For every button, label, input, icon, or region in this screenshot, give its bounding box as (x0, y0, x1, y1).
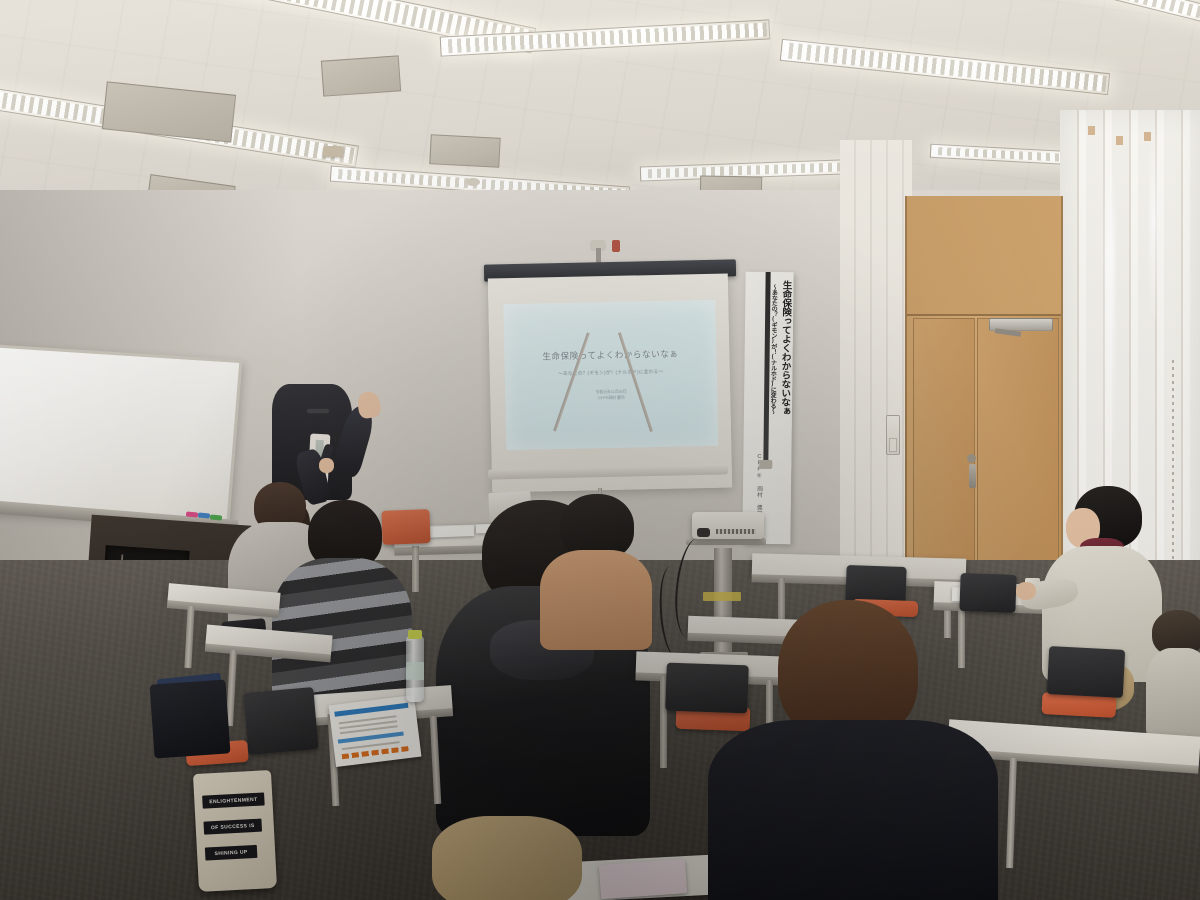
slide-presenter: CFP®岡村 健司 (596, 395, 627, 402)
attendee-striped-sweater (272, 500, 416, 700)
ceiling-vent (429, 134, 500, 168)
whiteboard (0, 344, 243, 527)
seminar-room-photo: 生命保険ってよくわからないなぁ ～あなたの？(ギモン)が！(ナルホド)に変わる～… (0, 0, 1200, 900)
glasses-icon (306, 408, 330, 414)
attendee-torso (540, 550, 652, 650)
door-lock-icon[interactable] (967, 454, 976, 463)
projection-screen: 生命保険ってよくわからないなぁ ～あなたの？(ギモン)が！(ナルホド)に変わる～… (484, 262, 746, 492)
whiteboard-marker[interactable] (198, 512, 210, 518)
door-transom-panel (907, 196, 1061, 316)
ceiling-vent (321, 55, 401, 96)
blind-tab (1116, 136, 1123, 145)
daylight-glow (1105, 160, 1115, 440)
bottle-cap (408, 630, 422, 639)
handout-document[interactable] (329, 695, 422, 767)
smoke-detector-icon (323, 146, 343, 157)
door-handle[interactable] (969, 464, 976, 488)
attendee-torso (1146, 648, 1200, 738)
handout-header-band (334, 703, 408, 717)
chair-backrest[interactable] (1047, 646, 1125, 698)
chair-backrest[interactable] (243, 687, 318, 755)
slide-meta: 令和元年11月30日 CFP®岡村 健司 (596, 388, 627, 402)
daylight-glow (1150, 120, 1157, 320)
screen-hook-icon (612, 240, 620, 252)
attendee-torso (708, 720, 998, 900)
attendee-tan-top (540, 494, 656, 644)
light-switch-panel[interactable] (886, 415, 900, 455)
slide-title: 生命保険ってよくわからないなぁ (542, 347, 678, 362)
attendee-lap-coat (432, 816, 582, 900)
blind-tab (1144, 132, 1151, 141)
ceiling-speaker-icon (466, 178, 480, 186)
bottle-label (406, 662, 424, 680)
projector-vent (716, 529, 756, 534)
attendee-brown-hair-dark-coat (690, 600, 990, 900)
vertical-banner: 生命保険ってよくわからないなぁ ～あなたの？(ギモン)が！(ナルホド)に変わる～… (742, 272, 793, 545)
attendee-far-right (1146, 610, 1200, 730)
banner-clip (759, 460, 772, 469)
window-blinds-left (840, 140, 912, 610)
whiteboard-marker[interactable] (210, 514, 222, 520)
attendee-bottom-center (392, 800, 632, 900)
whiteboard-glare (0, 348, 239, 525)
blind-tab (1088, 126, 1095, 135)
whiteboard-marker[interactable] (186, 511, 198, 517)
tote-text-band: SHINING UP (205, 845, 258, 861)
shoulder-bag[interactable] (150, 679, 231, 758)
presenter-hand (356, 391, 381, 420)
presenter-mic-hand (319, 458, 334, 473)
projector-lens-icon (697, 528, 710, 537)
attendee-hair (778, 600, 918, 740)
attendee-hand (1016, 582, 1036, 600)
tote-text-band: ENLIGHTENMENT (202, 792, 265, 808)
projected-slide: 生命保険ってよくわからないなぁ ～あなたの？(ギモン)が！(ナルホド)に変わる～… (503, 300, 718, 450)
tote-text-band: OF SUCCESS IS (203, 819, 262, 835)
screen-surface: 生命保険ってよくわからないなぁ ～あなたの？(ギモン)が！(ナルホド)に変わる～… (488, 274, 732, 493)
tote-bag[interactable]: ENLIGHTENMENT OF SUCCESS IS SHINING UP (193, 770, 277, 892)
